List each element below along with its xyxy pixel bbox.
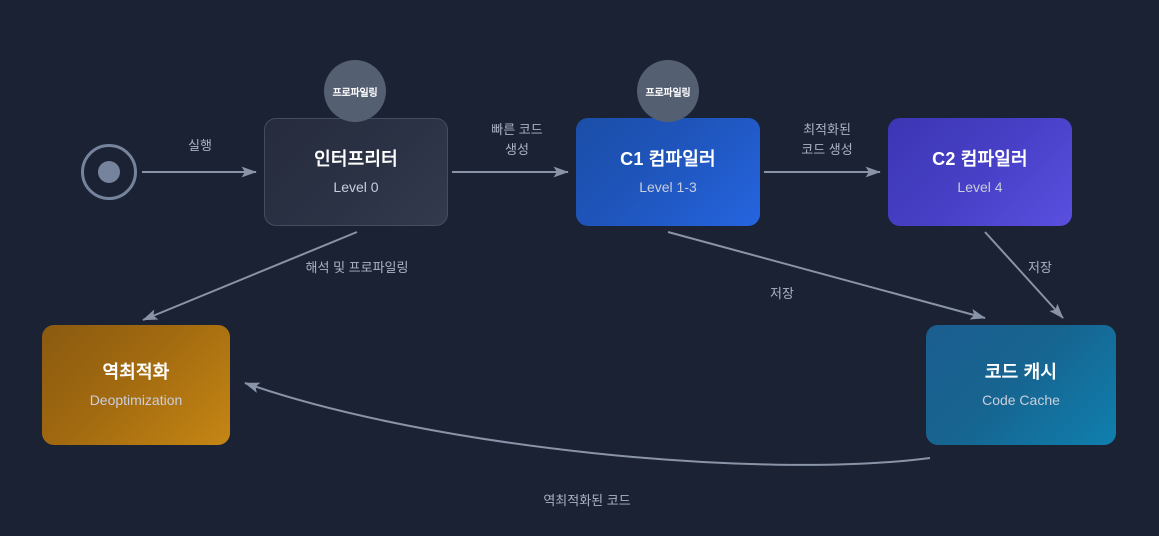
edge-label-start-to-interpreter: 실행: [160, 136, 240, 156]
node-deoptimization[interactable]: 역최적화 Deoptimization: [42, 325, 230, 445]
node-c1-subtitle: Level 1-3: [639, 179, 697, 197]
edge-label-c1-to-codecache: 저장: [742, 284, 822, 304]
edge-label-c1-to-c2: 최적화된 코드 생성: [772, 120, 882, 159]
edge-label-interpreter-to-c1: 빠른 코드 생성: [462, 120, 572, 159]
node-c2-subtitle: Level 4: [957, 179, 1002, 197]
edge-label-codecache-to-deopt: 역최적화된 코드: [487, 491, 687, 511]
node-c1-compiler[interactable]: C1 컴파일러 Level 1-3: [576, 118, 760, 226]
edge-codecache-to-deopt: [245, 383, 930, 465]
edge-label-interpreter-to-deopt: 해석 및 프로파일링: [277, 258, 437, 278]
node-deoptimization-title: 역최적화: [102, 361, 169, 384]
diagram-canvas: 인터프리터 Level 0 프로파일링 C1 컴파일러 Level 1-3 프로…: [0, 0, 1159, 536]
badge-profiling-interpreter: 프로파일링: [324, 60, 386, 122]
node-interpreter[interactable]: 인터프리터 Level 0: [264, 118, 448, 226]
edge-label-c2-to-codecache: 저장: [1000, 258, 1080, 278]
node-code-cache-title: 코드 캐시: [985, 361, 1057, 384]
node-c2-title: C2 컴파일러: [932, 148, 1028, 171]
node-deoptimization-subtitle: Deoptimization: [90, 392, 183, 410]
node-interpreter-title: 인터프리터: [314, 148, 398, 171]
badge-profiling-c1: 프로파일링: [637, 60, 699, 122]
start-node-dot: [98, 161, 120, 183]
node-code-cache-subtitle: Code Cache: [982, 392, 1060, 410]
start-node[interactable]: [81, 144, 137, 200]
edge-c1-to-codecache: [668, 232, 985, 318]
node-c1-title: C1 컴파일러: [620, 148, 716, 171]
node-code-cache[interactable]: 코드 캐시 Code Cache: [926, 325, 1116, 445]
diagram-edges: [0, 0, 1159, 536]
node-interpreter-subtitle: Level 0: [333, 179, 378, 197]
node-c2-compiler[interactable]: C2 컴파일러 Level 4: [888, 118, 1072, 226]
